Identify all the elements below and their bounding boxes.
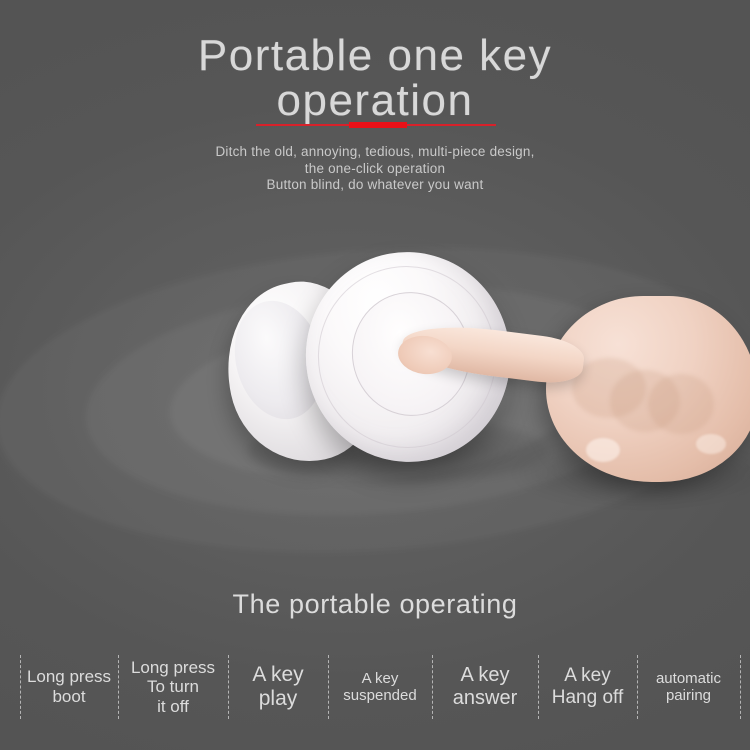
fingernail-2: [696, 434, 726, 454]
feature-list: Long press bootLong press To turn it off…: [0, 655, 750, 719]
knuckle-3: [648, 374, 714, 434]
section-heading: The portable operating: [0, 589, 750, 620]
feature-item[interactable]: Long press To turn it off: [118, 655, 228, 719]
feature-item[interactable]: A key play: [228, 655, 328, 719]
feature-item[interactable]: automatic pairing: [637, 655, 740, 719]
feature-item[interactable]: Long press boot: [20, 655, 118, 719]
feature-divider-8: [740, 655, 741, 719]
feature-item[interactable]: A key suspended: [328, 655, 432, 719]
feature-item[interactable]: A key Hang off: [538, 655, 637, 719]
pointing-hand: [396, 262, 750, 502]
product-marketing-banner: Portable one key operation Ditch the old…: [0, 0, 750, 750]
feature-item[interactable]: A key answer: [432, 655, 538, 719]
fingernail-1: [586, 438, 620, 462]
